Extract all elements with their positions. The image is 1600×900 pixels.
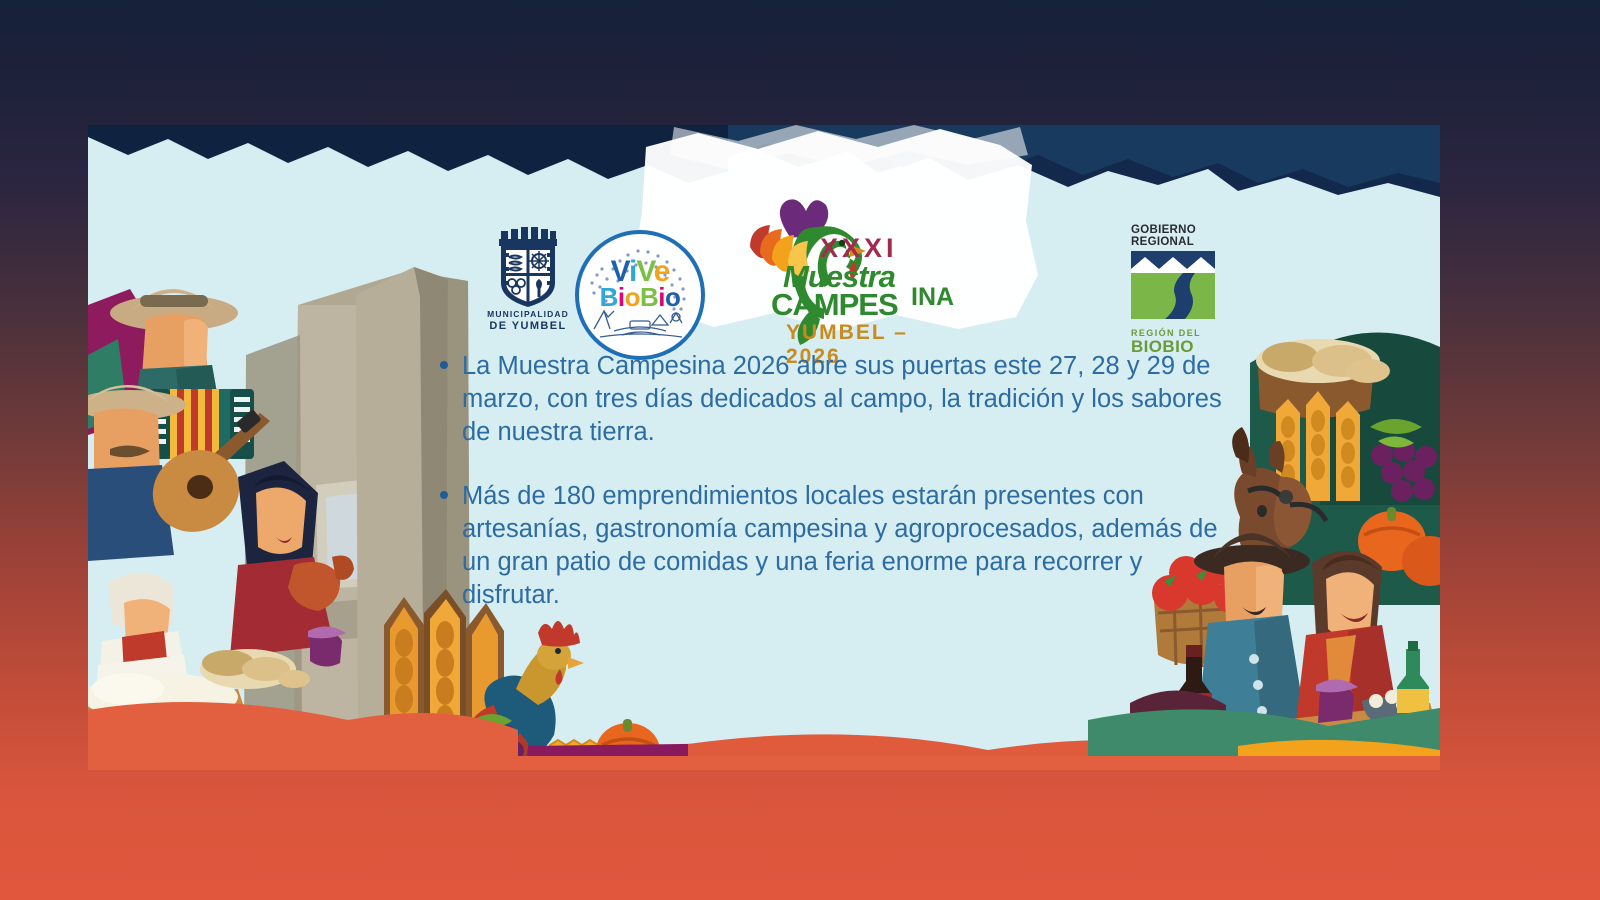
bullet-text-2: Más de 180 emprendimientos locales estar…: [462, 480, 1246, 612]
bullet-marker-icon: [436, 480, 462, 612]
torn-paper-white-patch: [628, 125, 1048, 335]
bullet-item-2: Más de 180 emprendimientos locales estar…: [436, 480, 1246, 612]
presentation-slide: MUNICIPALIDAD DE YUMBEL: [88, 125, 1440, 770]
bottom-color-band: [88, 756, 1440, 770]
slide-body-text: La Muestra Campesina 2026 abre sus puert…: [436, 350, 1246, 643]
bullet-item-1: La Muestra Campesina 2026 abre sus puert…: [436, 350, 1246, 449]
bullet-text-1: La Muestra Campesina 2026 abre sus puert…: [462, 350, 1246, 449]
bullet-marker-icon: [436, 350, 462, 449]
foreground-ground-shapes: [88, 650, 1440, 770]
